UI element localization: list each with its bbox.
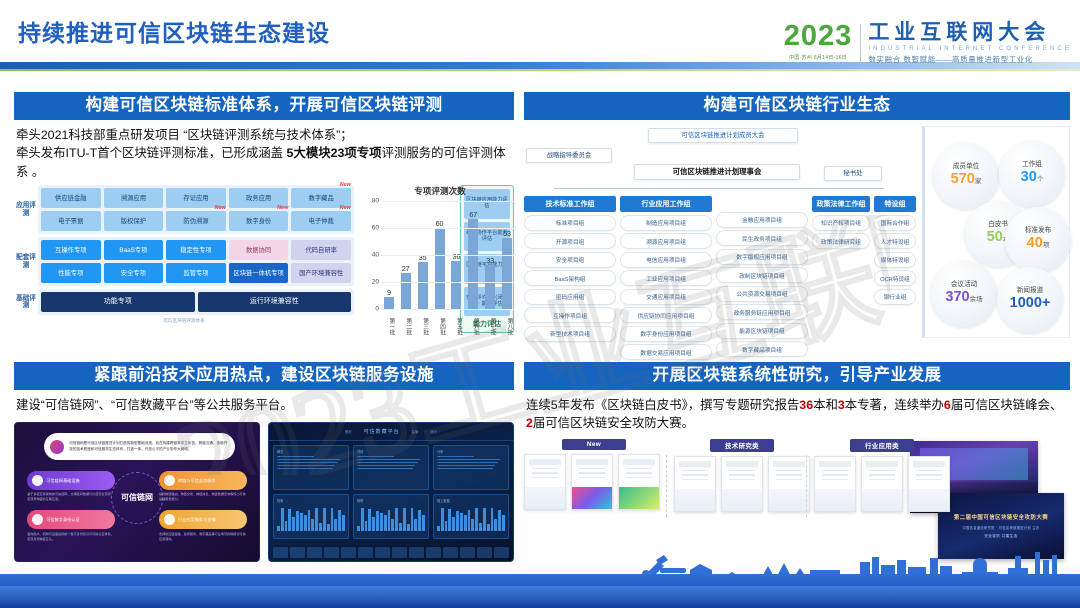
- dashboard-card[interactable]: 检索: [273, 494, 349, 539]
- report-cover-art: [722, 489, 762, 511]
- infrastructure-figure: 可信链网是可信区块链推进计划打造的新型基础设施，旨在构建跨链条中立可信、跨链互通…: [14, 422, 514, 562]
- photo-competition-slide: 第二届中国可信区块链安全攻防大赛 中国信息通信研究院 · 可信区块链推进计划 主…: [938, 493, 1064, 559]
- dashboard-card[interactable]: 分布: [433, 445, 509, 490]
- chart-x-tick: 第三批: [416, 311, 430, 341]
- working-group-item[interactable]: 能源区块链项目组: [716, 323, 808, 339]
- report-cover-art: [909, 489, 949, 511]
- conference-name-block: 工业互联网大会 INDUSTRIAL INTERNET CONFERENCE 数…: [868, 22, 1072, 65]
- working-group-item[interactable]: 标准项目组: [524, 215, 616, 231]
- stat-value: 1000+: [1010, 296, 1051, 312]
- dashboard-sparkline: [437, 505, 505, 531]
- matrix-cell: 电子仲裁New: [291, 211, 351, 231]
- conference-year: 2023: [784, 22, 853, 51]
- report-cover[interactable]: [768, 456, 810, 512]
- matrix-row: 基础评测功能专项运行环境兼容性: [14, 289, 354, 315]
- panel-ecosystem: 构建可信区块链行业生态 可信区块链推进计划成员大会 战略指导委员会 可信区块链推…: [524, 92, 1070, 341]
- working-group-item[interactable]: 电信应用项目组: [620, 252, 712, 268]
- panel-infrastructure-body: 建设“可信链网”、“可信数藏平台”等公共服务平台。: [14, 390, 514, 415]
- chainnet-pill-2: 跨链与可信业务服务: [159, 471, 247, 490]
- matrix-row-label: 配套评测: [14, 237, 38, 286]
- conference-date: 中国·苏州 8月14日-16日: [784, 54, 853, 61]
- dashboard-card-title: 详情: [357, 449, 425, 454]
- chainnet-banner-text: 可信链网是可信区块链推进计划打造的新型基础设施，旨在构建跨链条中立可信、跨链互通…: [69, 441, 228, 452]
- dashboard-title: 可信数藏平台: [364, 428, 400, 435]
- chainnet-pill-4-label: 行业应用服务与支撑: [178, 517, 216, 523]
- report-cover[interactable]: [814, 456, 856, 512]
- matrix-caption: 可信区块链评测体系: [14, 318, 354, 324]
- chainnet-banner: 可信链网是可信区块链推进计划打造的新型基础设施，旨在构建跨链条中立可信、跨链互通…: [44, 433, 234, 461]
- chart-y-tick: 60: [372, 225, 379, 232]
- chart-bar: [485, 265, 495, 310]
- report-group-tag: 行业应用类: [850, 439, 914, 452]
- stat-circle: 新闻报道1000+: [997, 267, 1063, 333]
- working-group-item[interactable]: 安全项目组: [524, 252, 616, 268]
- matrix-cell: 数字身份New: [229, 211, 289, 231]
- working-group-item[interactable]: 银行业组: [874, 289, 916, 305]
- org-node-secretariat: 秘书处: [824, 166, 882, 181]
- working-group-item[interactable]: 政策法律研究组: [812, 233, 870, 249]
- stat-unit: 余场: [970, 296, 983, 303]
- research-text-p5: 届可信区块链安全攻防大赛。: [533, 416, 694, 430]
- working-group-item[interactable]: OCR特设组: [874, 270, 916, 286]
- working-group-item[interactable]: 互操作项目组: [524, 307, 616, 323]
- chart-x-tick: 第七批: [483, 311, 497, 341]
- research-text-p4: 届可信区块链峰会、: [951, 398, 1063, 412]
- working-group-item[interactable]: 工业应用项目组: [620, 270, 712, 286]
- page-title: 持续推进可信区块链生态建设: [18, 14, 330, 48]
- research-num-3: 6: [944, 398, 951, 412]
- chart-bar-value: 67: [469, 210, 477, 219]
- chainnet-pill-1-label: 可信链网基础设施: [46, 478, 80, 484]
- dashboard-card[interactable]: 趋势: [353, 494, 429, 539]
- working-group-item[interactable]: 知识产权项目组: [812, 215, 870, 231]
- report-row: [524, 454, 664, 510]
- working-group-item[interactable]: 政制区块链项目组: [716, 267, 808, 283]
- panel-standards: 构建可信区块链标准体系，开展可信区块链评测 牵头2021科技部重点研发项目 “区…: [14, 92, 514, 340]
- footer-wave-secondary: [0, 586, 1080, 608]
- report-group-tag: New: [562, 439, 626, 450]
- chainnet-note-1: 基于多链互联架构的可信链网，支撑链间数据与价值安全流转，实现异构链的互联互通。: [27, 492, 115, 501]
- panel-standards-header: 构建可信区块链标准体系，开展可信区块链评测: [14, 92, 514, 120]
- id-card-icon: [32, 514, 43, 525]
- matrix-cell: 监管专项: [166, 263, 226, 283]
- dashboard-tab-1: 首页: [345, 429, 352, 434]
- report-cover-art: [675, 489, 715, 511]
- dashboard-column: 分布链上数据: [433, 445, 509, 539]
- conference-year-block: 2023 中国·苏州 8月14日-16日: [784, 22, 861, 65]
- report-cover-art: [525, 487, 565, 509]
- chart-x-axis-labels: 第一批第二批第三批第四批第五批第六批第七批第八批: [366, 311, 514, 341]
- chainnet-note-4: 支撑供应链金融、政务服务、数字藏品等行业场景的规模化可信应用落地。: [159, 532, 247, 541]
- working-group-item[interactable]: 国际合作组: [874, 215, 916, 231]
- panel-standards-body: 牵头2021科技部重点研发项目 “区块链评测系统与技术体系”； 牵头发布ITU-…: [14, 120, 514, 182]
- stat-label: 会议活动: [951, 281, 977, 288]
- dashboard-card[interactable]: 链上数据: [433, 494, 509, 539]
- chart-y-axis: 020406080: [366, 201, 380, 309]
- chainnet-note-2: 提供跨链路由、跨链交易、跨链消息、跨链数据查询等核心可信基础服务能力。: [159, 492, 247, 501]
- organization-chart: 可信区块链推进计划成员大会 战略指导委员会 可信区块链推进计划理事会 秘书处 技…: [524, 126, 916, 338]
- conference-name-cn: 工业互联网大会: [868, 22, 1072, 44]
- link-icon: [164, 475, 175, 486]
- stat-label: 白皮书: [988, 221, 1008, 228]
- report-group-divider: [806, 455, 807, 517]
- chart-plot-area: 020406080 927356036673353: [366, 201, 514, 309]
- chainnet-pill-3: 可信数字身份认证: [27, 510, 115, 529]
- stat-value: 40项: [1027, 236, 1050, 252]
- working-group-header: 政策法律工作组: [812, 196, 870, 212]
- report-cover[interactable]: [524, 454, 566, 510]
- stat-circle: 标准发布40项: [1005, 207, 1071, 273]
- working-group-column: 特设组国际合作组人才特设组媒体特设组OCR特设组银行业组: [874, 196, 916, 308]
- chart-y-tick: 20: [372, 279, 379, 286]
- dashboard-column: 概览检索: [273, 445, 349, 539]
- chart-bar-value: 53: [503, 229, 511, 238]
- matrix-cell: 稳定性专项: [166, 240, 226, 260]
- dashboard-sparkline: [357, 505, 425, 531]
- dashboard-card-title: 概览: [277, 449, 345, 454]
- working-group-item[interactable]: 新型技术项目组: [524, 326, 616, 342]
- competition-title: 第二届中国可信区块链安全攻防大赛: [954, 513, 1048, 521]
- matrix-cell: 功能专项: [41, 292, 195, 312]
- matrix-band: 供应链金融溯源应用存证应用政务应用数字藏品New电子票据版权保护防伪溯源New数…: [38, 185, 354, 234]
- research-text-p2: 本和: [813, 398, 838, 412]
- report-group: 行业应用类: [814, 439, 950, 512]
- chart-y-tick: 40: [372, 252, 379, 259]
- working-group-item[interactable]: 供应链协同应用项目组: [620, 307, 712, 323]
- chart-gridline: [381, 201, 514, 202]
- dashboard-card-title: 链上数据: [437, 498, 505, 503]
- working-group-item[interactable]: 溯源应用项目组: [620, 233, 712, 249]
- chart-gridline: [381, 309, 514, 310]
- ecosystem-stats-card: 成员单位570家工作组30个白皮书50本标准发布40项会议活动370余场新闻报道…: [922, 126, 1070, 338]
- chart-bar-value: 60: [436, 219, 444, 228]
- matrix-cell: 运行环境兼容性: [198, 292, 352, 312]
- network-icon: [164, 514, 175, 525]
- matrix-row-label: 基础评测: [14, 289, 38, 315]
- shield-icon: [32, 475, 43, 486]
- standards-text-line1: 牵头2021科技部重点研发项目 “区块链评测系统与技术体系”；: [16, 128, 353, 142]
- dashboard-tab-3: 统计: [430, 429, 437, 434]
- new-badge: New: [214, 205, 225, 211]
- report-group-divider: [666, 455, 667, 517]
- working-group-item[interactable]: 密码应用组: [524, 289, 616, 305]
- chainnet-pill-3-label: 可信数字身份认证: [46, 517, 80, 523]
- screenshot-chainnet: 可信链网是可信区块链推进计划打造的新型基础设施，旨在构建跨链条中立可信、跨链互通…: [14, 422, 260, 562]
- working-group-item[interactable]: 数字藏品项目组: [716, 341, 808, 357]
- stat-label: 成员单位: [953, 163, 979, 170]
- stat-circle: 工作组30个: [999, 141, 1065, 207]
- org-node-assembly: 可信区块链推进计划成员大会: [648, 128, 798, 143]
- panel-research-body: 连续5年发布《区块链白皮书》，撰写专题研究报告36本和3本专著，连续举办6届可信…: [524, 390, 1070, 433]
- chart-x-tick: 第六批: [466, 311, 480, 341]
- dashboard-card-title: 检索: [277, 498, 345, 503]
- stat-label: 新闻报道: [1017, 287, 1043, 294]
- working-group-item[interactable]: 数字版权应用项目组: [716, 249, 808, 265]
- special-evaluation-chart: 专项评测次数 020406080 927356036673353 第一批第二批第…: [366, 185, 514, 337]
- dashboard-card[interactable]: 概览: [273, 445, 349, 490]
- competition-subtitle: 中国信息通信研究院 · 可信区块链推进计划 主办: [962, 525, 1039, 530]
- report-cover[interactable]: [908, 456, 950, 512]
- report-cover-art: [815, 489, 855, 511]
- chainnet-pill-1: 可信链网基础设施: [27, 471, 115, 490]
- research-num-4: 2: [526, 416, 533, 430]
- matrix-band: 功能专项运行环境兼容性: [38, 289, 354, 315]
- matrix-cell: 防伪溯源New: [166, 211, 226, 231]
- matrix-cell: 性能专项: [41, 263, 101, 283]
- matrix-line: 供应链金融溯源应用存证应用政务应用数字藏品New: [41, 188, 351, 208]
- chart-x-tick: 第八批: [500, 311, 514, 341]
- dashboard-text-lines: [277, 456, 345, 469]
- chart-x-tick: 第二批: [399, 311, 413, 341]
- panel-infrastructure-header: 紧跟前沿技术应用热点，建设区块链服务设施: [14, 362, 514, 390]
- org-node-strategy-committee: 战略指导委员会: [526, 148, 612, 163]
- working-group-column: 政策法律工作组知识产权项目组政策法律研究组: [812, 196, 870, 252]
- research-num-1: 36: [799, 398, 813, 412]
- matrix-cell-extra: 国产环境兼容性: [291, 263, 351, 283]
- working-group-item[interactable]: 交通应用项目组: [620, 289, 712, 305]
- research-num-2: 3: [838, 398, 845, 412]
- chart-bar: [384, 297, 394, 309]
- working-group-column: 行业应用工作组制造应用项目组溯源应用项目组电信应用项目组工业应用项目组交通应用项…: [620, 196, 712, 363]
- chart-gridline: [381, 228, 514, 229]
- matrix-cell: 电子票据: [41, 211, 101, 231]
- report-group: New: [524, 439, 664, 510]
- working-group-item[interactable]: 媒体特设组: [874, 252, 916, 268]
- logo-divider: [860, 24, 861, 63]
- stat-unit: 项: [1043, 242, 1050, 249]
- conference-tagline: 数实融合 数智赋能——高质量推进新型工业化: [868, 54, 1072, 65]
- matrix-line: 功能专项运行环境兼容性: [41, 292, 351, 312]
- working-group-item[interactable]: 公共资源交易项目组: [716, 286, 808, 302]
- matrix-cell: 供应链金融: [41, 188, 101, 208]
- panel-ecosystem-header: 构建可信区块链行业生态: [524, 92, 1070, 120]
- chart-title: 专项评测次数: [366, 185, 514, 197]
- standards-text-bold: 5大模块23项专项: [287, 146, 382, 160]
- new-badge: New: [340, 205, 351, 211]
- stat-value: 570家: [951, 172, 982, 188]
- dashboard-topbar: 首页 可信数藏平台 监管 统计: [269, 423, 513, 441]
- report-cover[interactable]: [571, 454, 613, 510]
- research-text-p1: 连续5年发布《区块链白皮书》，撰写专题研究报告: [526, 398, 799, 412]
- report-row: [814, 456, 950, 512]
- chart-x-tick: 第四批: [433, 311, 447, 341]
- working-group-item[interactable]: 制造应用项目组: [620, 215, 712, 231]
- report-cover[interactable]: [861, 456, 903, 512]
- header-divider-green: [0, 69, 1080, 71]
- panel-research-header: 开展区块链系统性研究，引导产业发展: [524, 362, 1070, 390]
- matrix-row: 配套评测互操作专项BaaS专项稳定性专项数据协同代码自研率性能专项安全专项监管专…: [14, 237, 354, 286]
- matrix-band: 互操作专项BaaS专项稳定性专项数据协同代码自研率性能专项安全专项监管专项区块链…: [38, 237, 354, 286]
- dashboard-tab-2: 监管: [412, 429, 419, 434]
- stat-label: 工作组: [1022, 161, 1042, 168]
- competition-slogan: 安全攻防 共建生态: [984, 534, 1017, 539]
- stat-unit: 家: [975, 178, 982, 185]
- chart-bar: [468, 219, 478, 309]
- matrix-cell: 版权保护: [104, 211, 164, 231]
- dashboard-card[interactable]: 详情: [353, 445, 429, 490]
- chart-bar: [502, 238, 512, 310]
- stat-circle: 会议活动370余场: [931, 261, 997, 327]
- working-group-item[interactable]: 金融应用项目组: [716, 212, 808, 228]
- matrix-line: 性能专项安全专项监管专项区块链一体机专项国产环境兼容性: [41, 263, 351, 283]
- matrix-row-label: 应用评测: [14, 185, 38, 234]
- report-cover-art: [769, 489, 809, 511]
- report-group: 技术研究类: [674, 439, 810, 512]
- stat-value: 370余场: [945, 290, 982, 306]
- working-group-item[interactable]: BaaS架构组: [524, 270, 616, 286]
- chart-bar: [418, 262, 428, 309]
- chart-bar-value: 27: [402, 264, 410, 273]
- conference-logo: 2023 中国·苏州 8月14日-16日 工业互联网大会 INDUSTRIAL …: [784, 22, 1072, 65]
- report-cover[interactable]: [618, 454, 660, 510]
- working-group-header: 技术标准工作组: [524, 196, 616, 212]
- report-cover[interactable]: [674, 456, 716, 512]
- ecosystem-figure: 可信区块链推进计划成员大会 战略指导委员会 可信区块链推进计划理事会 秘书处 技…: [524, 126, 1070, 341]
- research-text-p3: 本专著，连续举办: [845, 398, 944, 412]
- working-group-header: 特设组: [874, 196, 916, 212]
- matrix-cell: BaaS专项: [104, 240, 164, 260]
- chainnet-logo-icon: [50, 440, 64, 454]
- standards-figure: 应用评测供应链金融溯源应用存证应用政务应用数字藏品New电子票据版权保护防伪溯源…: [14, 185, 514, 340]
- panel-infrastructure: 紧跟前沿技术应用热点，建设区块链服务设施 建设“可信链网”、“可信数藏平台”等公…: [14, 362, 514, 562]
- new-badge: New: [277, 205, 288, 211]
- chart-gridline: [381, 282, 514, 283]
- screenshot-dashboard: 首页 可信数藏平台 监管 统计 概览检索详情趋势分布链上数据: [268, 422, 514, 562]
- evaluation-matrix: 应用评测供应链金融溯源应用存证应用政务应用数字藏品New电子票据版权保护防伪溯源…: [14, 185, 354, 324]
- matrix-cell: 溯源应用: [104, 188, 164, 208]
- working-group-item[interactable]: 人才特设组: [874, 233, 916, 249]
- new-badge: New: [340, 182, 351, 188]
- dashboard-main: 概览检索详情趋势分布链上数据: [269, 441, 513, 543]
- working-group-column: 技术标准工作组标准项目组开源项目组安全项目组BaaS架构组密码应用组互操作项目组…: [524, 196, 616, 345]
- stat-value: 30个: [1021, 170, 1044, 186]
- chainnet-note-3: 面向用户、机构与设备提供统一数字身份标识与可信认证体系，实现身份跨链互认。: [27, 532, 115, 541]
- chart-bar: [401, 273, 411, 309]
- report-row: [674, 456, 810, 512]
- dashboard-text-lines: [357, 456, 425, 469]
- stat-label: 标准发布: [1025, 227, 1051, 234]
- conference-name-en: INDUSTRIAL INTERNET CONFERENCE: [868, 46, 1072, 52]
- dashboard-card-title: 趋势: [357, 498, 425, 503]
- chart-bar: [435, 228, 445, 309]
- working-group-item[interactable]: 数据交易应用项目组: [620, 344, 712, 360]
- working-group-item[interactable]: 民生政务项目组: [716, 230, 808, 246]
- report-cover-art: [572, 487, 612, 509]
- chainnet-center-label: 可信链网: [111, 472, 163, 524]
- chainnet-pill-4: 行业应用服务与支撑: [159, 510, 247, 529]
- chart-x-tick: 第一批: [382, 311, 396, 341]
- chart-y-tick: 0: [375, 306, 379, 313]
- chart-bar-value: 33: [486, 256, 494, 265]
- matrix-cell: 安全专项: [104, 263, 164, 283]
- dashboard-sparkline: [277, 505, 345, 531]
- footer-band: [0, 552, 1080, 608]
- working-group-item[interactable]: 数字身份应用项目组: [620, 326, 712, 342]
- report-cover-art: [619, 487, 659, 509]
- report-group-tag: 技术研究类: [710, 439, 774, 452]
- report-cover[interactable]: [721, 456, 763, 512]
- dashboard-column: 详情趋势: [353, 445, 429, 539]
- chart-y-tick: 80: [372, 198, 379, 205]
- chart-bar-value: 9: [387, 288, 391, 297]
- matrix-cell: 互操作专项: [41, 240, 101, 260]
- org-connector: [554, 188, 884, 189]
- working-group-header: 行业应用工作组: [620, 196, 712, 212]
- report-cover-art: [862, 489, 902, 511]
- dashboard-card-title: 分布: [437, 449, 505, 454]
- matrix-row: 应用评测供应链金融溯源应用存证应用政务应用数字藏品New电子票据版权保护防伪溯源…: [14, 185, 354, 234]
- chart-gridline: [381, 255, 514, 256]
- dashboard-text-lines: [437, 456, 505, 469]
- matrix-cell-extra: 代码自研率: [291, 240, 351, 260]
- matrix-line: 电子票据版权保护防伪溯源New数字身份New电子仲裁New: [41, 211, 351, 231]
- org-node-council: 可信区块链推进计划理事会: [634, 164, 800, 180]
- matrix-cell-extra: 区块链一体机专项: [229, 263, 289, 283]
- matrix-cell-extra: 数据协同: [229, 240, 289, 260]
- standards-text-line2: 牵头发布ITU-T首个区块链评测标准，已形成涵盖: [16, 146, 287, 160]
- chart-bar: [451, 261, 461, 310]
- stat-circle: 成员单位570家: [933, 143, 999, 209]
- working-group-item[interactable]: 开源项目组: [524, 233, 616, 249]
- chart-x-tick: 第五批: [450, 311, 464, 341]
- working-group-column: 金融应用项目组民生政务项目组数字版权应用项目组政制区块链项目组公共资源交易项目组…: [716, 196, 808, 360]
- working-group-item[interactable]: 政务服务链应用项目组: [716, 304, 808, 320]
- stat-unit: 个: [1037, 176, 1044, 183]
- matrix-line: 互操作专项BaaS专项稳定性专项数据协同代码自研率: [41, 240, 351, 260]
- chainnet-pill-2-label: 跨链与可信业务服务: [178, 478, 216, 484]
